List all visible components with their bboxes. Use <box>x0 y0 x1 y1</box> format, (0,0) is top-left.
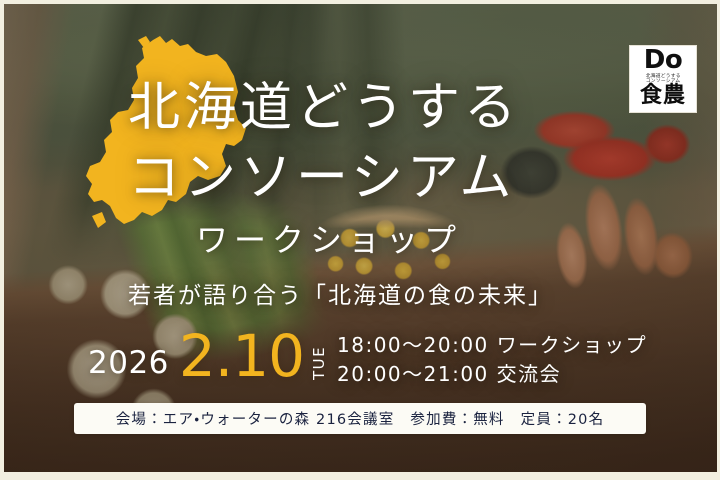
capacity-value: 20名 <box>568 412 605 428</box>
venue-value: エア・ウォーターの森 216会議室 <box>163 412 395 428</box>
venue-label: 会場： <box>116 412 163 428</box>
logo-kanji: 食農 <box>640 85 686 107</box>
photo-layer-color-grade <box>4 4 717 472</box>
event-poster: Do 北海道どうする コンソーシアム 食農 北海道どうする コンソーシアム ワー… <box>0 0 720 480</box>
event-info-bar: 会場：エア・ウォーターの森 216会議室参加費：無料定員：20名 <box>74 403 646 434</box>
info-bar-text: 会場：エア・ウォーターの森 216会議室参加費：無料定員：20名 <box>116 408 605 429</box>
fee-label: 参加費： <box>410 412 473 428</box>
logo-subtext-2: コンソーシアム <box>646 79 681 85</box>
fee-value: 無料 <box>473 412 504 428</box>
consortium-logo: Do 北海道どうする コンソーシアム 食農 <box>629 45 697 113</box>
background-photo <box>4 4 717 472</box>
logo-wordmark: Do <box>644 49 682 73</box>
capacity-label: 定員： <box>521 412 568 428</box>
